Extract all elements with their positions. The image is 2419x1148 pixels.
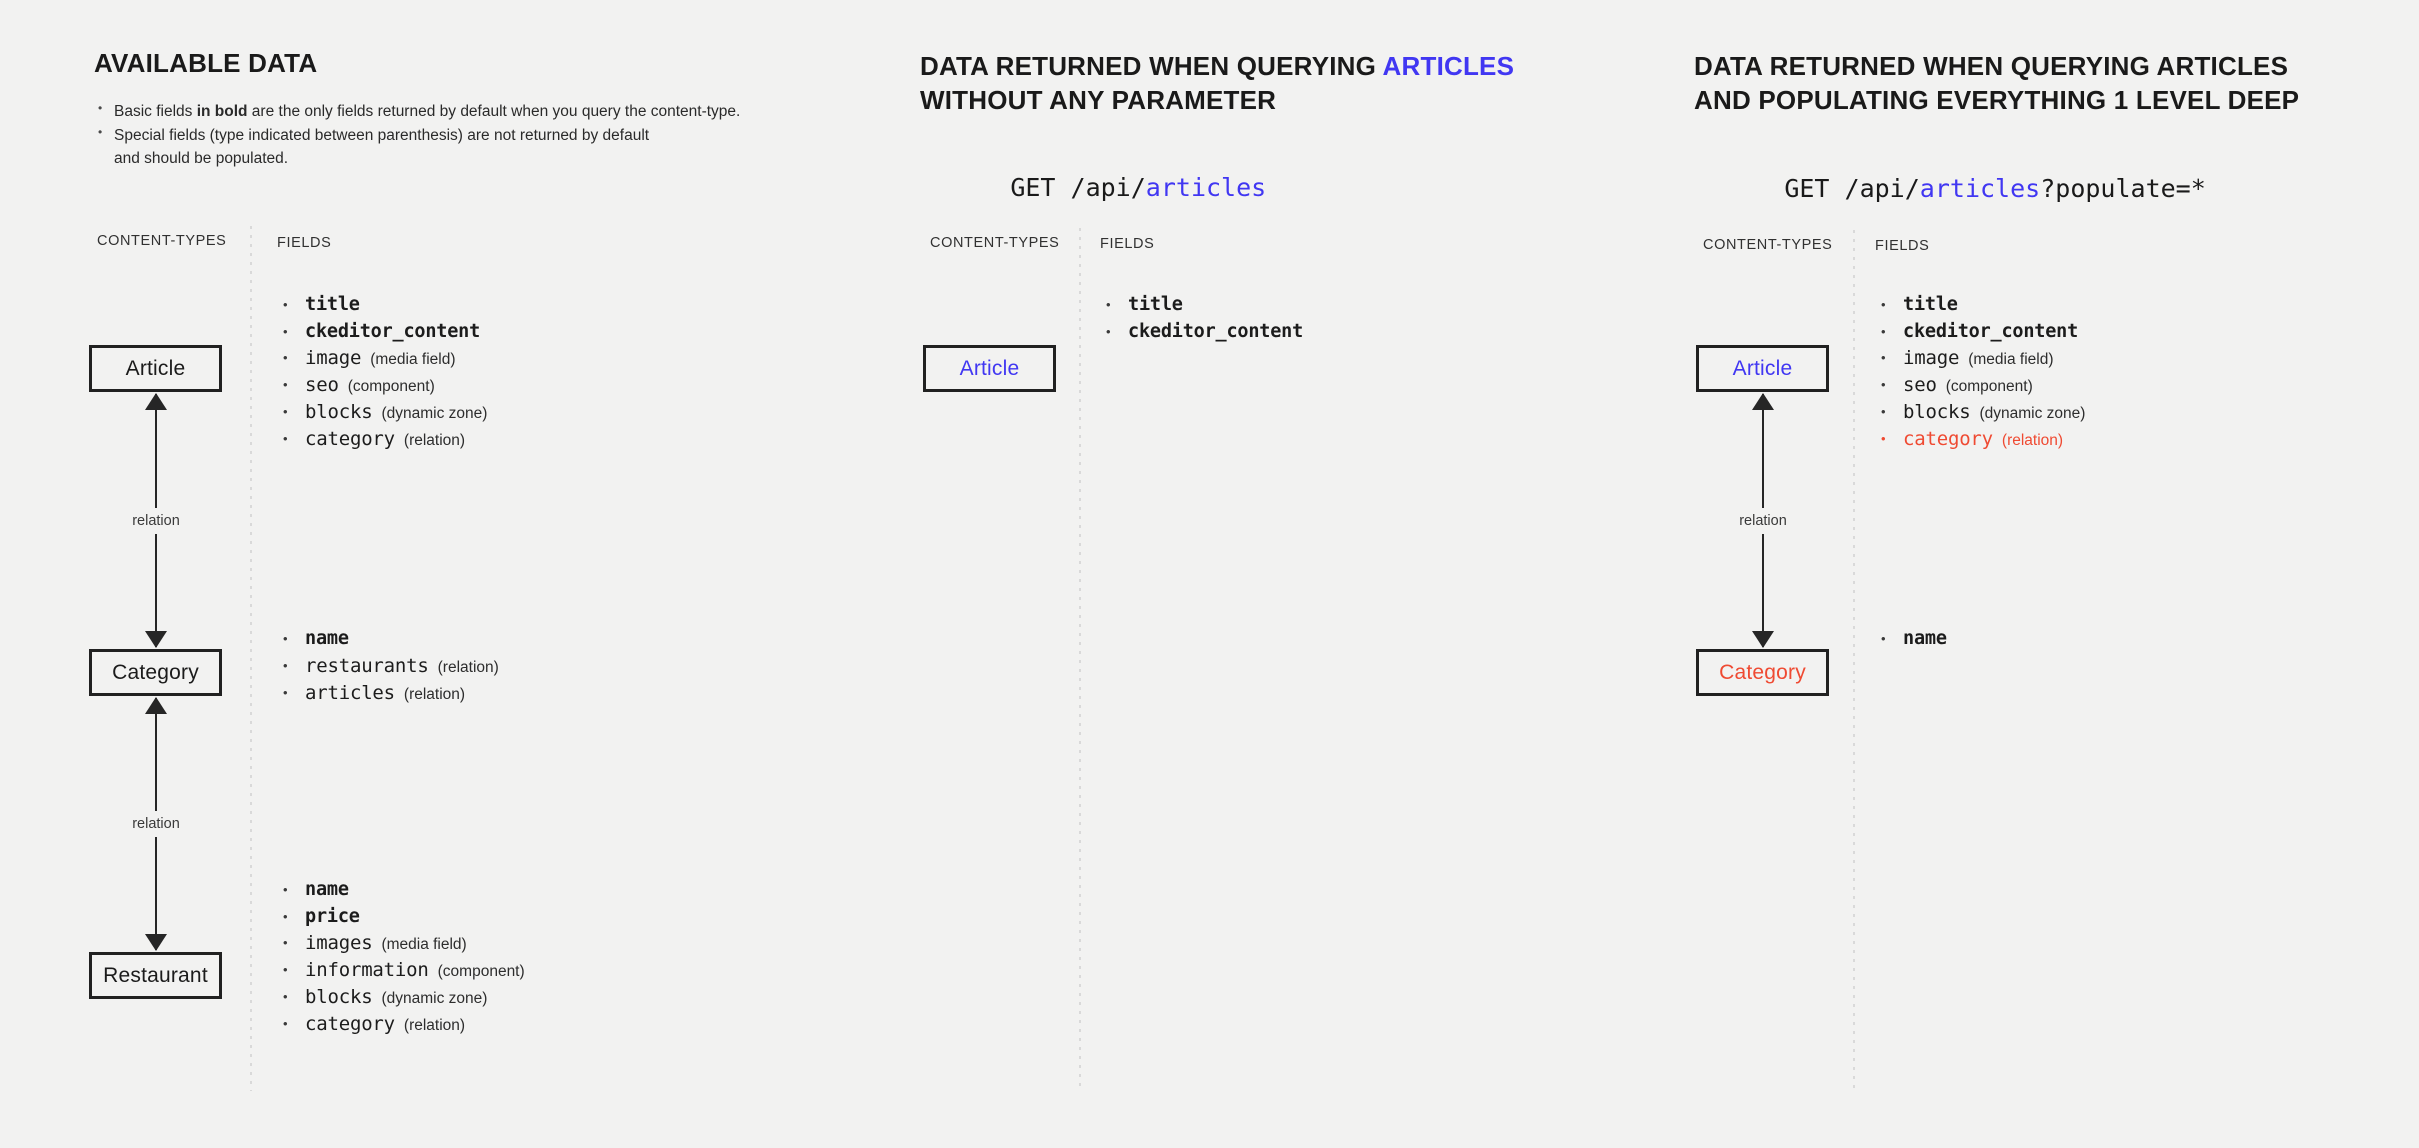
note-basic-bold: in bold <box>197 103 248 120</box>
relation-arrow-article-category-populate: relation <box>1735 394 1791 647</box>
field-name: image <box>1903 347 1959 369</box>
field-name: title <box>1128 294 1183 315</box>
field-name: category <box>305 428 395 450</box>
field-row: information(component) <box>277 961 525 980</box>
field-list-article-noparam: titleckeditor_content <box>1100 296 1303 349</box>
relation-arrow-article-category: relation <box>128 394 184 647</box>
field-type: (media field) <box>1968 351 2053 368</box>
column-divider-available <box>250 226 252 1091</box>
field-list-article-populate: titleckeditor_contentimage(media field)s… <box>1875 296 2085 457</box>
field-row: price <box>277 908 525 927</box>
field-row: title <box>1875 296 2085 315</box>
note-special-text: Special fields (type indicated between p… <box>114 127 649 144</box>
available-data-notes: Basic fields in bold are the only fields… <box>94 100 854 171</box>
field-row: name <box>277 881 525 900</box>
field-type: (relation) <box>404 686 465 703</box>
endpoint-resource: articles <box>1920 174 2040 203</box>
field-type: (relation) <box>2002 432 2063 449</box>
field-name: ckeditor_content <box>1128 321 1303 342</box>
field-name: restaurants <box>305 655 429 677</box>
column-no-parameter: DATA RETURNED WHEN QUERYING ARTICLES WIT… <box>830 0 1620 1148</box>
field-list-category: namerestaurants(relation)articles(relati… <box>277 630 499 711</box>
content-type-box-article-populate[interactable]: Article <box>1696 345 1829 392</box>
field-type: (relation) <box>438 659 499 676</box>
field-name: information <box>305 959 429 981</box>
endpoint-base: /api/ <box>1845 174 1920 203</box>
endpoint-no-parameter: GET /api/articles <box>920 144 1266 231</box>
populate-title-line1: DATA RETURNED WHEN QUERYING ARTICLES <box>1694 51 2288 81</box>
field-name: articles <box>305 682 395 704</box>
no-parameter-title-plain: DATA RETURNED WHEN QUERYING <box>920 51 1383 81</box>
field-name: title <box>1903 294 1958 315</box>
relation-label-category-restaurant: relation <box>125 811 187 837</box>
arrow-head-down-icon <box>145 934 167 951</box>
field-type: (relation) <box>404 432 465 449</box>
note-basic-pre: Basic fields <box>114 103 197 120</box>
relation-label-article-category: relation <box>125 508 187 534</box>
field-row: ckeditor_content <box>277 323 487 342</box>
endpoint-base: /api/ <box>1071 173 1146 202</box>
note-special-text-cont: and should be populated. <box>114 150 288 167</box>
field-name: title <box>305 294 360 315</box>
label-content-types-populate: CONTENT-TYPES <box>1703 237 1832 253</box>
field-row: title <box>1100 296 1303 315</box>
field-type: (dynamic zone) <box>381 405 487 422</box>
field-row: restaurants(relation) <box>277 657 499 676</box>
populate-title-line2: AND POPULATING EVERYTHING 1 LEVEL DEEP <box>1694 85 2299 115</box>
content-type-box-category[interactable]: Category <box>89 649 222 696</box>
field-type: (media field) <box>381 936 466 953</box>
endpoint-method: GET <box>1010 173 1070 202</box>
field-row: articles(relation) <box>277 684 499 703</box>
field-type: (component) <box>1946 378 2033 395</box>
content-type-box-article-noparam-label: Article <box>960 357 1020 381</box>
content-type-box-category-populate[interactable]: Category <box>1696 649 1829 696</box>
endpoint-populate: GET /api/articles?populate=* <box>1694 145 2206 232</box>
field-name: name <box>305 879 349 900</box>
column-divider-noparam <box>1079 228 1081 1091</box>
field-list-category-populate: name <box>1875 630 1947 657</box>
field-row: category(relation) <box>1875 430 2085 449</box>
field-name: image <box>305 347 361 369</box>
field-name: ckeditor_content <box>1903 321 2078 342</box>
field-name: seo <box>305 374 339 396</box>
column-available-data: AVAILABLE DATA Basic fields in bold are … <box>0 0 920 1148</box>
note-special-fields-cont: and should be populated. <box>94 147 854 171</box>
field-row: image(media field) <box>277 349 487 368</box>
field-list-article: titleckeditor_contentimage(media field)s… <box>277 296 487 457</box>
field-name: blocks <box>1903 401 1970 423</box>
relation-label-article-category-populate: relation <box>1732 508 1794 534</box>
field-row: image(media field) <box>1875 349 2085 368</box>
field-name: name <box>305 628 349 649</box>
field-row: category(relation) <box>277 1015 525 1034</box>
field-name: category <box>305 1013 395 1035</box>
field-row: ckeditor_content <box>1100 323 1303 342</box>
field-name: blocks <box>305 401 372 423</box>
field-row: name <box>1875 630 1947 649</box>
field-type: (dynamic zone) <box>381 990 487 1007</box>
field-row: images(media field) <box>277 934 525 953</box>
field-row: title <box>277 296 487 315</box>
relation-arrow-category-restaurant: relation <box>128 698 184 950</box>
label-content-types-available: CONTENT-TYPES <box>97 233 226 249</box>
field-name: ckeditor_content <box>305 321 480 342</box>
field-name: name <box>1903 628 1947 649</box>
column-divider-populate <box>1853 230 1855 1091</box>
no-parameter-title-line2: WITHOUT ANY PARAMETER <box>920 85 1276 115</box>
populate-title: DATA RETURNED WHEN QUERYING ARTICLES AND… <box>1694 50 2414 118</box>
no-parameter-title-accent: ARTICLES <box>1383 51 1515 81</box>
field-name: blocks <box>305 986 372 1008</box>
field-name: category <box>1903 428 1993 450</box>
label-fields-noparam: FIELDS <box>1100 236 1154 252</box>
field-row: ckeditor_content <box>1875 323 2085 342</box>
endpoint-resource: articles <box>1146 173 1266 202</box>
field-row: blocks(dynamic zone) <box>1875 403 2085 422</box>
content-type-box-restaurant-label: Restaurant <box>103 964 208 988</box>
field-type: (component) <box>348 378 435 395</box>
label-fields-populate: FIELDS <box>1875 238 1929 254</box>
content-type-box-article[interactable]: Article <box>89 345 222 392</box>
field-row: name <box>277 630 499 649</box>
field-name: images <box>305 932 372 954</box>
field-row: seo(component) <box>1875 376 2085 395</box>
field-name: seo <box>1903 374 1937 396</box>
note-basic-fields: Basic fields in bold are the only fields… <box>94 100 854 124</box>
field-list-restaurant: namepriceimages(media field)information(… <box>277 881 525 1042</box>
arrow-head-down-icon <box>1752 631 1774 648</box>
field-row: seo(component) <box>277 376 487 395</box>
field-row: blocks(dynamic zone) <box>277 403 487 422</box>
field-type: (component) <box>438 963 525 980</box>
arrow-head-down-icon <box>145 631 167 648</box>
content-type-box-article-label: Article <box>126 357 186 381</box>
field-type: (media field) <box>370 351 455 368</box>
arrow-head-up-icon <box>1752 393 1774 410</box>
content-type-box-restaurant[interactable]: Restaurant <box>89 952 222 999</box>
column-populate-deep: DATA RETURNED WHEN QUERYING ARTICLES AND… <box>1610 0 2419 1148</box>
field-type: (relation) <box>404 1017 465 1034</box>
field-row: category(relation) <box>277 430 487 449</box>
no-parameter-title: DATA RETURNED WHEN QUERYING ARTICLES WIT… <box>920 50 1620 118</box>
arrow-head-up-icon <box>145 393 167 410</box>
note-basic-post: are the only fields returned by default … <box>248 103 741 120</box>
content-type-box-category-label: Category <box>112 661 199 685</box>
label-content-types-noparam: CONTENT-TYPES <box>930 235 1059 251</box>
field-type: (dynamic zone) <box>1979 405 2085 422</box>
label-fields-available: FIELDS <box>277 235 331 251</box>
note-special-fields: Special fields (type indicated between p… <box>94 124 854 148</box>
available-data-title: AVAILABLE DATA <box>94 47 317 81</box>
field-row: blocks(dynamic zone) <box>277 988 525 1007</box>
endpoint-method: GET <box>1784 174 1844 203</box>
content-type-box-category-populate-label: Category <box>1719 661 1806 685</box>
content-type-box-article-populate-label: Article <box>1733 357 1793 381</box>
field-name: price <box>305 906 360 927</box>
content-type-box-article-noparam[interactable]: Article <box>923 345 1056 392</box>
diagram-canvas: AVAILABLE DATA Basic fields in bold are … <box>0 0 2419 1148</box>
arrow-head-up-icon <box>145 697 167 714</box>
endpoint-query: ?populate=* <box>2040 174 2206 203</box>
